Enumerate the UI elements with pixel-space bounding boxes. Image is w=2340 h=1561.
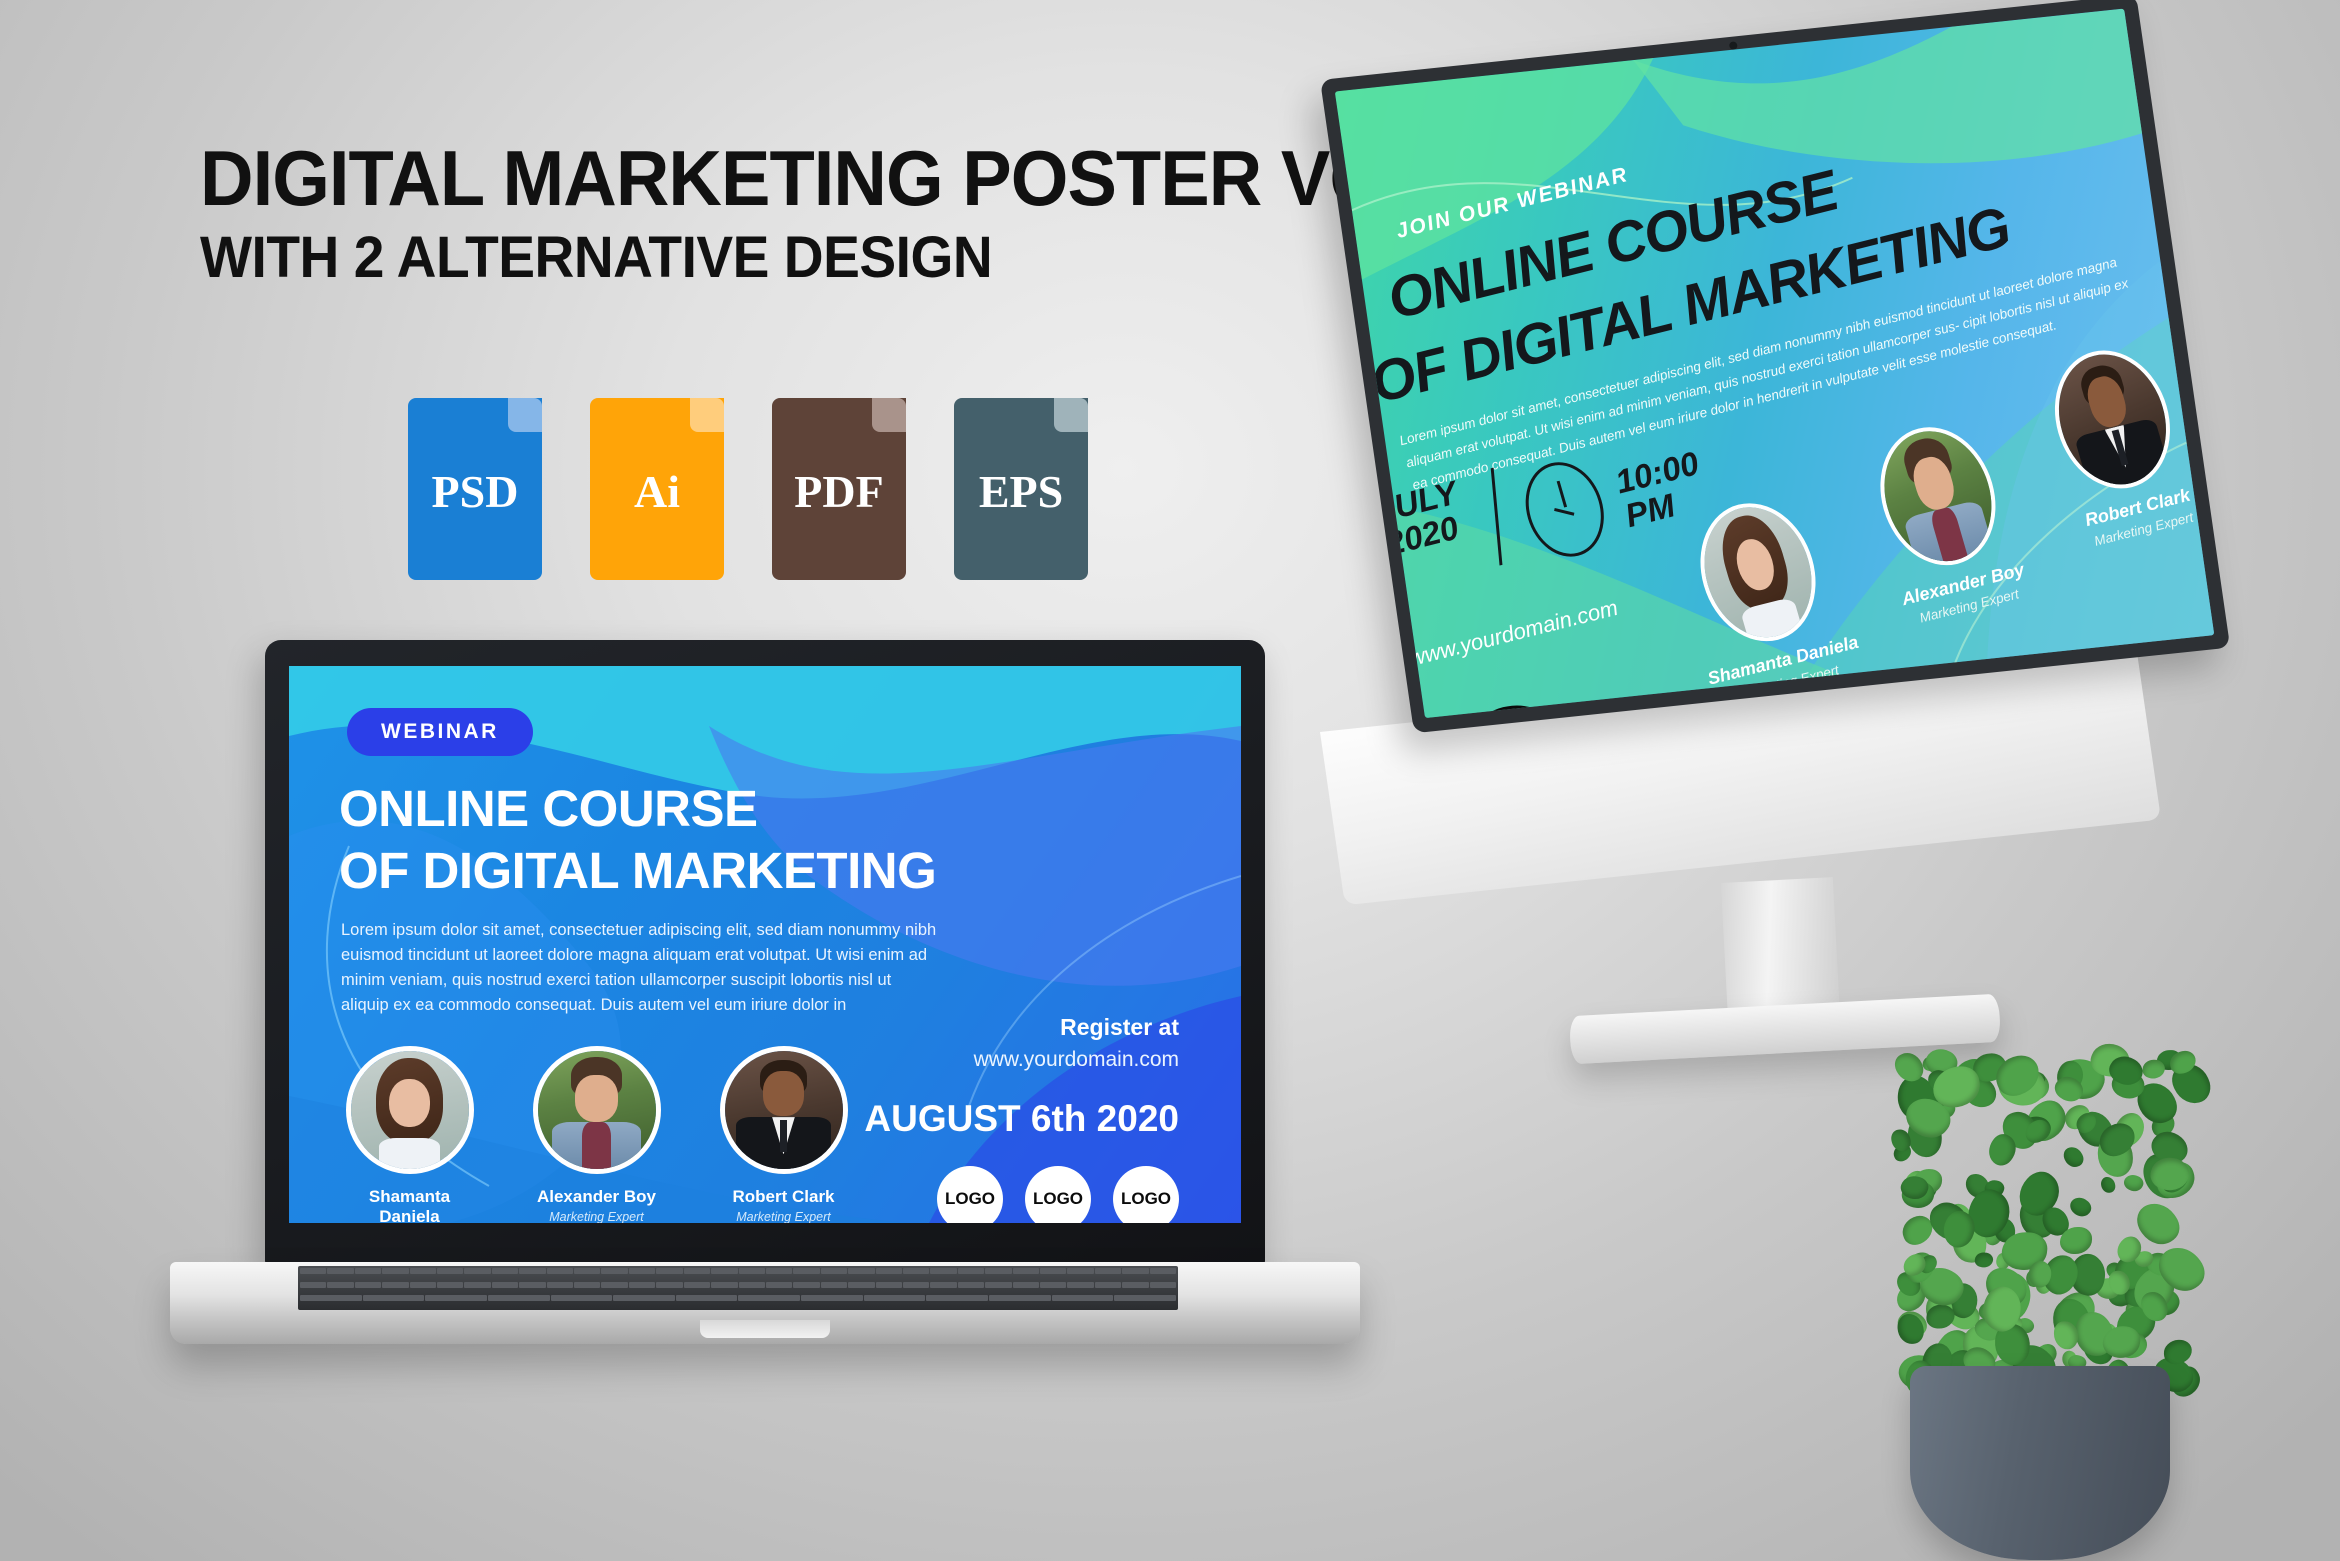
webinar-badge: WEBINAR xyxy=(347,708,533,756)
keyboard-key[interactable] xyxy=(464,1268,490,1274)
keyboard-key[interactable] xyxy=(1040,1268,1066,1274)
laptop-lid: WEBINAR ONLINE COURSE OF DIGITAL MARKETI… xyxy=(265,640,1265,1265)
speaker-card: Alexander BoyMarketing Expert xyxy=(524,1046,669,1223)
keyboard-key[interactable] xyxy=(1095,1282,1121,1288)
pdf-file-icon[interactable]: PDF xyxy=(772,398,906,580)
keyboard-key[interactable] xyxy=(437,1268,463,1274)
laptop-screen: WEBINAR ONLINE COURSE OF DIGITAL MARKETI… xyxy=(289,666,1241,1223)
keyboard-key[interactable] xyxy=(930,1268,956,1274)
laptop-title: ONLINE COURSE OF DIGITAL MARKETING xyxy=(339,778,936,902)
keyboard-key[interactable] xyxy=(766,1268,792,1274)
plant-pot xyxy=(1910,1366,2170,1560)
logo-placeholder: LOGO xyxy=(937,1166,1003,1223)
file-corner-fold-icon xyxy=(1054,398,1088,432)
leaf-icon xyxy=(2142,1058,2166,1080)
keyboard-key[interactable] xyxy=(613,1295,675,1301)
keyboard-key[interactable] xyxy=(821,1282,847,1288)
file-format-label: PSD xyxy=(432,465,519,518)
keyboard-key[interactable] xyxy=(488,1295,550,1301)
speaker-name: Alexander Boy xyxy=(524,1187,669,1207)
laptop-title-line1: ONLINE COURSE xyxy=(339,778,936,840)
keyboard-key[interactable] xyxy=(656,1282,682,1288)
avatar xyxy=(346,1046,474,1174)
keyboard-key[interactable] xyxy=(492,1268,518,1274)
keyboard-key[interactable] xyxy=(425,1295,487,1301)
keyboard-key[interactable] xyxy=(864,1295,926,1301)
laptop-event-date: AUGUST 6th 2020 xyxy=(864,1098,1179,1140)
speaker-card: Alexander BoyMarketing Expert xyxy=(1838,409,2051,633)
keyboard-key[interactable] xyxy=(363,1295,425,1301)
laptop-keyboard xyxy=(298,1266,1178,1310)
keyboard-key[interactable] xyxy=(464,1282,490,1288)
keyboard-key[interactable] xyxy=(985,1268,1011,1274)
keyboard-key[interactable] xyxy=(300,1268,326,1274)
macbook-laptop-mockup: WEBINAR ONLINE COURSE OF DIGITAL MARKETI… xyxy=(170,640,1410,1380)
speaker-card: Robert ClarkMarketing Expert xyxy=(2013,332,2215,556)
keyboard-key[interactable] xyxy=(926,1295,988,1301)
laptop-body-text: Lorem ipsum dolor sit amet, consectetuer… xyxy=(341,918,941,1018)
laptop-speaker-row: Shamanta DanielaMarketing ExpertAlexande… xyxy=(337,1046,857,1223)
keyboard-key[interactable] xyxy=(629,1268,655,1274)
monitor-screen: JOIN OUR WEBINAR ONLINE COURSE OF DIGITA… xyxy=(1335,9,2215,718)
keyboard-key[interactable] xyxy=(711,1268,737,1274)
speaker-name: Robert Clark xyxy=(711,1187,856,1207)
registration-block: Register at www.yourdomain.com AUGUST 6t… xyxy=(864,1014,1179,1140)
leaf-icon xyxy=(1974,1251,1994,1269)
leaf-icon xyxy=(2060,1227,2092,1255)
laptop-logo-row: LOGOLOGOLOGO xyxy=(937,1166,1179,1223)
laptop-title-line2: OF DIGITAL MARKETING xyxy=(339,840,936,902)
keyboard-key[interactable] xyxy=(1095,1268,1121,1274)
leaf-icon xyxy=(2054,1321,2079,1350)
keyboard-key[interactable] xyxy=(739,1282,765,1288)
leaf-icon xyxy=(1927,1304,1956,1329)
avatar xyxy=(1864,415,2011,577)
ai-file-icon[interactable]: Ai xyxy=(590,398,724,580)
keyboard-key[interactable] xyxy=(1067,1282,1093,1288)
keyboard-key[interactable] xyxy=(876,1282,902,1288)
logo-placeholder: LOGO xyxy=(1113,1166,1179,1223)
speaker-card: Shamanta DanielaMarketing Expert xyxy=(1658,485,1871,709)
eps-file-icon[interactable]: EPS xyxy=(954,398,1088,580)
keyboard-key[interactable] xyxy=(766,1282,792,1288)
clock-icon xyxy=(1515,454,1615,565)
keyboard-key[interactable] xyxy=(793,1282,819,1288)
keyboard-key[interactable] xyxy=(738,1295,800,1301)
keyboard-key[interactable] xyxy=(547,1268,573,1274)
keyboard-key[interactable] xyxy=(684,1268,710,1274)
speaker-role: Marketing Expert xyxy=(524,1210,669,1223)
keyboard-key[interactable] xyxy=(601,1282,627,1288)
keyboard-key[interactable] xyxy=(876,1268,902,1274)
keyboard-key[interactable] xyxy=(601,1268,627,1274)
file-format-label: Ai xyxy=(634,465,680,518)
keyboard-key[interactable] xyxy=(382,1268,408,1274)
keyboard-key[interactable] xyxy=(821,1268,847,1274)
keyboard-key[interactable] xyxy=(1150,1282,1176,1288)
keyboard-key[interactable] xyxy=(519,1268,545,1274)
speaker-role: Marketing Expert xyxy=(711,1210,856,1223)
keyboard-key[interactable] xyxy=(958,1268,984,1274)
keyboard-key[interactable] xyxy=(903,1268,929,1274)
keyboard-key[interactable] xyxy=(547,1282,573,1288)
keyboard-key[interactable] xyxy=(492,1282,518,1288)
file-format-badge-row: PSDAiPDFEPS xyxy=(408,398,1088,580)
speaker-name: Shamanta Daniela xyxy=(337,1187,482,1223)
avatar xyxy=(533,1046,661,1174)
keyboard-key[interactable] xyxy=(410,1282,436,1288)
keyboard-key[interactable] xyxy=(1122,1268,1148,1274)
leaf-icon xyxy=(2101,1176,2117,1194)
file-format-label: EPS xyxy=(979,465,1063,518)
keyboard-key[interactable] xyxy=(684,1282,710,1288)
keyboard-key[interactable] xyxy=(327,1282,353,1288)
leaf-icon xyxy=(2163,1339,2192,1365)
keyboard-key[interactable] xyxy=(1052,1295,1114,1301)
keyboard-key[interactable] xyxy=(848,1268,874,1274)
plant-foliage xyxy=(1860,1000,2220,1400)
keyboard-key[interactable] xyxy=(903,1282,929,1288)
keyboard-key[interactable] xyxy=(801,1295,863,1301)
keyboard-key[interactable] xyxy=(985,1282,1011,1288)
keyboard-key[interactable] xyxy=(355,1268,381,1274)
keyboard-key[interactable] xyxy=(629,1282,655,1288)
monitor-date-divider xyxy=(1491,468,1503,566)
keyboard-key[interactable] xyxy=(551,1295,613,1301)
register-label: Register at xyxy=(864,1014,1179,1041)
keyboard-key[interactable] xyxy=(930,1282,956,1288)
keyboard-key[interactable] xyxy=(355,1282,381,1288)
leaf-icon xyxy=(2121,1171,2145,1194)
keyboard-key[interactable] xyxy=(300,1295,362,1301)
monitor-logo-placeholder: LOGO xyxy=(1459,696,1569,718)
keyboard-key[interactable] xyxy=(739,1268,765,1274)
keyboard-key[interactable] xyxy=(574,1268,600,1274)
keyboard-key[interactable] xyxy=(676,1295,738,1301)
keyboard-key[interactable] xyxy=(519,1282,545,1288)
speaker-card: Shamanta DanielaMarketing Expert xyxy=(337,1046,482,1223)
keyboard-key[interactable] xyxy=(1013,1268,1039,1274)
laptop-website: www.yourdomain.com xyxy=(864,1048,1179,1072)
potted-plant xyxy=(1860,1000,2220,1560)
keyboard-key[interactable] xyxy=(1040,1282,1066,1288)
keyboard-key[interactable] xyxy=(958,1282,984,1288)
monitor-website: www.yourdomain.com xyxy=(1406,595,1621,672)
keyboard-key[interactable] xyxy=(1013,1282,1039,1288)
file-corner-fold-icon xyxy=(872,398,906,432)
keyboard-key[interactable] xyxy=(1067,1268,1093,1274)
keyboard-key[interactable] xyxy=(1150,1268,1176,1274)
keyboard-key[interactable] xyxy=(989,1295,1051,1301)
monitor-event-date: JULY 2020 xyxy=(1372,476,1470,562)
psd-file-icon[interactable]: PSD xyxy=(408,398,542,580)
keyboard-key[interactable] xyxy=(848,1282,874,1288)
laptop-trackpad-notch xyxy=(700,1320,830,1338)
keyboard-key[interactable] xyxy=(300,1282,326,1288)
keyboard-key[interactable] xyxy=(656,1268,682,1274)
keyboard-key[interactable] xyxy=(793,1268,819,1274)
keyboard-key[interactable] xyxy=(410,1268,436,1274)
leaf-icon xyxy=(2067,1194,2095,1222)
avatar xyxy=(1684,491,1831,653)
avatar xyxy=(2038,338,2185,500)
keyboard-key[interactable] xyxy=(382,1282,408,1288)
monitor-bezel: JOIN OUR WEBINAR ONLINE COURSE OF DIGITA… xyxy=(1320,0,2230,733)
logo-placeholder: LOGO xyxy=(1025,1166,1091,1223)
keyboard-key[interactable] xyxy=(711,1282,737,1288)
file-format-label: PDF xyxy=(794,465,883,518)
keyboard-key[interactable] xyxy=(574,1282,600,1288)
file-corner-fold-icon xyxy=(690,398,724,432)
keyboard-key[interactable] xyxy=(327,1268,353,1274)
leaf-icon xyxy=(2061,1144,2086,1171)
keyboard-key[interactable] xyxy=(1122,1282,1148,1288)
keyboard-key[interactable] xyxy=(1114,1295,1176,1301)
keyboard-key[interactable] xyxy=(437,1282,463,1288)
avatar xyxy=(720,1046,848,1174)
speaker-card: Robert ClarkMarketing Expert xyxy=(711,1046,856,1223)
file-corner-fold-icon xyxy=(508,398,542,432)
